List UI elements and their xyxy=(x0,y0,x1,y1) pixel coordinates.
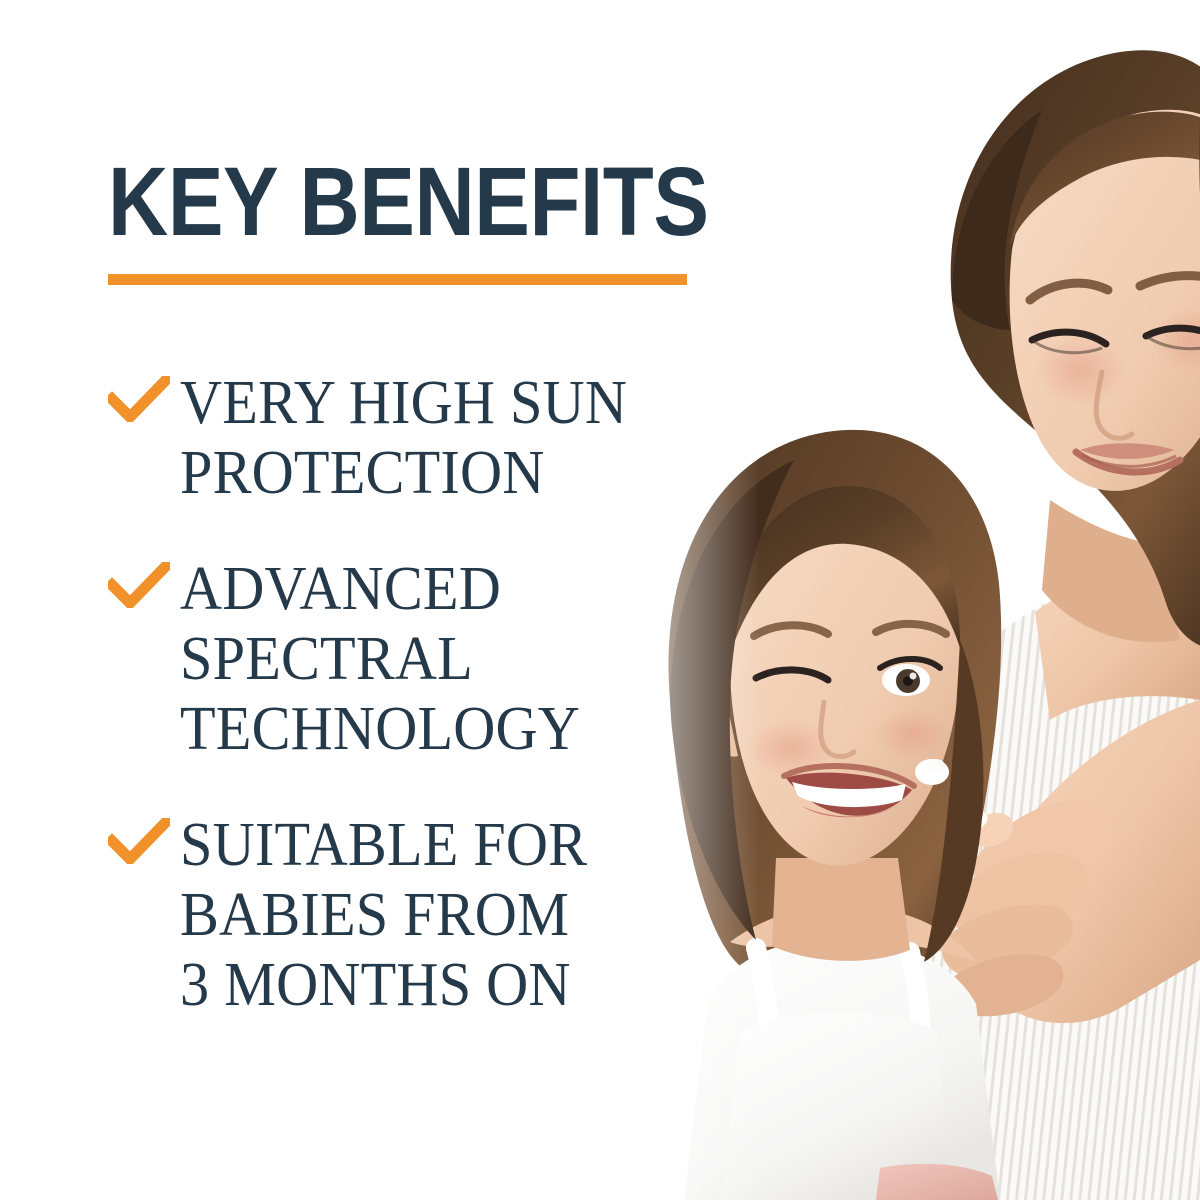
benefit-label: SUITABLE FOR BABIES FROM 3 MONTHS ON xyxy=(180,810,695,1020)
benefit-item-advanced-spectral-technology: ADVANCED SPECTRAL TECHNOLOGY xyxy=(108,554,728,764)
benefit-item-suitable-for-babies-from-3-months-on: SUITABLE FOR BABIES FROM 3 MONTHS ON xyxy=(108,810,728,1020)
benefits-list: VERY HIGH SUN PROTECTION ADVANCED SPECTR… xyxy=(108,368,728,1020)
check-icon xyxy=(108,562,180,620)
key-benefits-poster: KEY BENEFITS VERY HIGH SUN PROTECTION AD… xyxy=(0,0,1200,1200)
check-icon xyxy=(108,818,180,876)
check-icon xyxy=(108,376,180,434)
benefit-item-very-high-sun-protection: VERY HIGH SUN PROTECTION xyxy=(108,368,728,508)
title-underline-rule xyxy=(108,274,687,285)
benefit-label: ADVANCED SPECTRAL TECHNOLOGY xyxy=(180,554,695,764)
heading-block: KEY BENEFITS xyxy=(108,152,808,252)
page-title: KEY BENEFITS xyxy=(108,152,710,252)
benefit-label: VERY HIGH SUN PROTECTION xyxy=(180,368,695,508)
